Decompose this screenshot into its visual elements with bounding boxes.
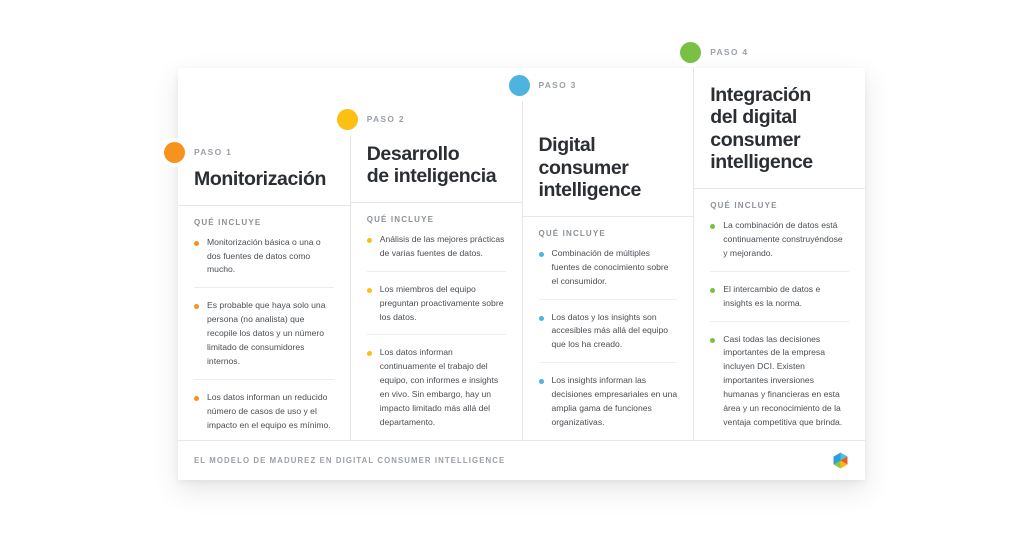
step-label-1: PASO 1: [194, 147, 232, 157]
bullet-dot-icon: [539, 379, 544, 384]
step-body-3: QUÉ INCLUYE Combinación de múltiples fue…: [523, 217, 694, 440]
step-header-2: PASO 2: [337, 103, 405, 135]
list-item: El intercambio de datos e insights es la…: [710, 271, 849, 311]
footer-caption: EL MODELO DE MADUREZ EN DIGITAL CONSUMER…: [194, 456, 505, 465]
bullet-text: Los datos y los insights son accesibles …: [552, 312, 669, 350]
list-item: Los insights informan las decisiones emp…: [539, 362, 678, 430]
bullet-dot-icon: [539, 252, 544, 257]
bullet-dot-icon: [710, 288, 715, 293]
step-kicker-1: QUÉ INCLUYE: [194, 218, 334, 227]
list-item: Monitorización básica o una o dos fuente…: [194, 236, 334, 278]
step-body-1: QUÉ INCLUYE Monitorización básica o una …: [178, 206, 350, 443]
list-item: Combinación de múltiples fuentes de cono…: [539, 247, 678, 289]
bullet-text: Los datos informan un reducido número de…: [207, 392, 331, 430]
step-header-3: PASO 3: [509, 69, 577, 101]
step-header-4: PASO 4: [680, 36, 748, 68]
step-bullet-list-2: Análisis de las mejores prácticas de var…: [367, 233, 506, 430]
bullet-text: Casi todas las decisiones importantes de…: [723, 334, 842, 428]
bullet-text: Análisis de las mejores prácticas de var…: [380, 234, 505, 258]
step-title-4: Integración del digital consumer intelli…: [710, 84, 812, 174]
list-item: Los datos informan continuamente el trab…: [367, 334, 506, 430]
step-title-box-4: Integración del digital consumer intelli…: [694, 68, 865, 189]
step-body-4: QUÉ INCLUYE La combinación de datos está…: [694, 189, 865, 440]
step-title-1: Monitorización: [194, 168, 326, 191]
list-item: Casi todas las decisiones importantes de…: [710, 321, 849, 430]
list-item: Es probable que haya solo una persona (n…: [194, 287, 334, 369]
step-dot-icon: [164, 142, 185, 163]
step-bullet-list-4: La combinación de datos está continuamen…: [710, 219, 849, 430]
bullet-text: La combinación de datos está continuamen…: [723, 220, 842, 258]
step-kicker-4: QUÉ INCLUYE: [710, 201, 849, 210]
infographic-root: PASO 1 Monitorización QUÉ INCLUYE Monito…: [0, 0, 1024, 536]
hexagon-logo-icon: [832, 452, 849, 469]
steps-container: PASO 1 Monitorización QUÉ INCLUYE Monito…: [178, 68, 865, 440]
step-title-2: Desarrollo de inteligencia: [367, 143, 496, 188]
bullet-text: Monitorización básica o una o dos fuente…: [207, 237, 321, 275]
bullet-dot-icon: [194, 396, 199, 401]
list-item: Los datos y los insights son accesibles …: [539, 299, 678, 353]
bullet-text: El intercambio de datos e insights es la…: [723, 284, 820, 308]
step-title-box-1: Monitorización: [178, 168, 350, 206]
bullet-dot-icon: [367, 288, 372, 293]
step-kicker-3: QUÉ INCLUYE: [539, 229, 678, 238]
step-label-2: PASO 2: [367, 114, 405, 124]
bullet-text: Los insights informan las decisiones emp…: [552, 375, 678, 427]
bullet-dot-icon: [539, 316, 544, 321]
step-column-2[interactable]: PASO 2 Desarrollo de inteligencia QUÉ IN…: [350, 135, 522, 440]
list-item: Los miembros del equipo preguntan proact…: [367, 271, 506, 325]
bullet-dot-icon: [367, 351, 372, 356]
step-kicker-2: QUÉ INCLUYE: [367, 215, 506, 224]
bullet-text: Los miembros del equipo preguntan proact…: [380, 284, 504, 322]
step-title-3: Digital consumer intelligence: [539, 134, 641, 202]
step-bullet-list-1: Monitorización básica o una o dos fuente…: [194, 236, 334, 433]
step-column-4[interactable]: PASO 4 Integración del digital consumer …: [693, 68, 865, 440]
step-column-1[interactable]: PASO 1 Monitorización QUÉ INCLUYE Monito…: [178, 168, 350, 440]
step-title-box-3: Digital consumer intelligence: [523, 101, 694, 217]
bullet-dot-icon: [367, 238, 372, 243]
bullet-text: Combinación de múltiples fuentes de cono…: [552, 248, 669, 286]
list-item: Análisis de las mejores prácticas de var…: [367, 233, 506, 261]
step-header-1: PASO 1: [164, 136, 232, 168]
bullet-dot-icon: [710, 224, 715, 229]
bullet-dot-icon: [194, 241, 199, 246]
list-item: La combinación de datos está continuamen…: [710, 219, 849, 261]
step-bullet-list-3: Combinación de múltiples fuentes de cono…: [539, 247, 678, 430]
step-dot-icon: [680, 42, 701, 63]
bullet-dot-icon: [194, 304, 199, 309]
step-label-3: PASO 3: [539, 80, 577, 90]
footer-bar: EL MODELO DE MADUREZ EN DIGITAL CONSUMER…: [178, 440, 865, 480]
step-body-2: QUÉ INCLUYE Análisis de las mejores prác…: [351, 203, 522, 440]
bullet-text: Los datos informan continuamente el trab…: [380, 347, 498, 427]
bullet-dot-icon: [710, 338, 715, 343]
bullet-text: Es probable que haya solo una persona (n…: [207, 300, 326, 366]
step-column-3[interactable]: PASO 3 Digital consumer intelligence QUÉ…: [522, 101, 694, 440]
step-label-4: PASO 4: [710, 47, 748, 57]
step-title-box-2: Desarrollo de inteligencia: [351, 135, 522, 203]
step-dot-icon: [509, 75, 530, 96]
list-item: Los datos informan un reducido número de…: [194, 379, 334, 433]
step-dot-icon: [337, 109, 358, 130]
